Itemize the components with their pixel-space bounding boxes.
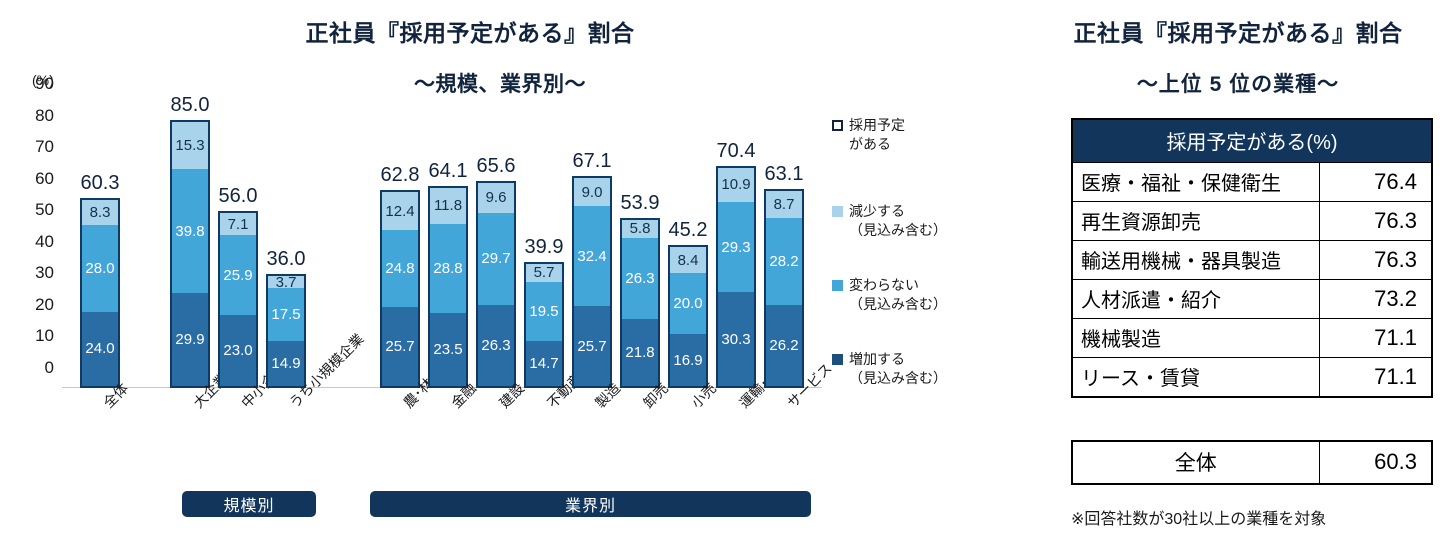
- bar-segment-decrease[interactable]: 7.1: [220, 213, 256, 235]
- table-header-row: 採用予定がある(%): [1072, 119, 1432, 163]
- bar-segment-increase[interactable]: 16.9: [670, 334, 706, 386]
- infographic-root: 正社員『採用予定がある』割合 〜規模、業界別〜 (%) 010203040506…: [0, 0, 1456, 551]
- bar-segment-value: 32.4: [577, 249, 606, 264]
- table-row[interactable]: リース・賃貸71.1: [1072, 358, 1432, 398]
- bar-segment-value: 8.3: [90, 205, 111, 220]
- bar-segment-value: 23.0: [223, 343, 252, 358]
- bar-segment-unchanged[interactable]: 19.5: [526, 282, 562, 342]
- bar-segment-decrease[interactable]: 5.7: [526, 264, 562, 281]
- table-row[interactable]: 機械製造71.1: [1072, 319, 1432, 358]
- bar-segment-unchanged[interactable]: 20.0: [670, 273, 706, 334]
- y-axis-tick: 10: [35, 326, 54, 346]
- bar-segment-value: 20.0: [673, 296, 702, 311]
- stacked-bar[interactable]: 9.629.726.3: [476, 181, 516, 388]
- bar-segment-value: 9.6: [486, 190, 507, 205]
- table-cell-industry: 医療・福祉・保健衛生: [1072, 163, 1319, 202]
- table-panel: 正社員『採用予定がある』割合 〜上位 5 位の業種〜 採用予定がある(%) 医療…: [1020, 0, 1456, 551]
- y-axis-tick: 20: [35, 295, 54, 315]
- y-axis-tick: 60: [35, 169, 54, 189]
- bar-segment-increase[interactable]: 26.3: [478, 305, 514, 386]
- table-cell-industry: リース・賃貸: [1072, 358, 1319, 398]
- bar-segment-value: 5.7: [534, 265, 555, 280]
- bar-segment-increase[interactable]: 25.7: [382, 307, 418, 386]
- plot-area: 0102030405060708090 60.38.328.024.0全体85.…: [62, 104, 822, 388]
- bar-column[interactable]: 63.18.728.226.2サービス: [764, 189, 804, 388]
- stacked-bar[interactable]: 7.125.923.0: [218, 211, 258, 388]
- legend-item-recruit-plan[interactable]: 採用予定 がある: [832, 116, 905, 154]
- table-cell-value: 71.1: [1319, 319, 1432, 358]
- y-axis-tick: 90: [35, 74, 54, 94]
- chart-panel: 正社員『採用予定がある』割合 〜規模、業界別〜 (%) 010203040506…: [0, 0, 1020, 551]
- table-footnote: ※回答社数が30社以上の業種を対象: [1071, 505, 1326, 529]
- legend-label: 減少する （見込み含む）: [849, 202, 947, 240]
- bar-segment-value: 8.7: [774, 197, 795, 212]
- legend-swatch-icon: [832, 206, 843, 217]
- y-axis-tick: 40: [35, 232, 54, 252]
- table-row[interactable]: 人材派遣・紹介73.2: [1072, 280, 1432, 319]
- bar-segment-unchanged[interactable]: 26.3: [622, 238, 658, 319]
- bar-column[interactable]: 56.07.125.923.0中小企業: [218, 211, 258, 388]
- bar-total-label: 60.3: [81, 172, 120, 195]
- chart-title: 正社員『採用予定がある』割合: [0, 14, 940, 48]
- bar-segment-decrease[interactable]: 9.0: [574, 178, 610, 206]
- bar-segment-value: 10.9: [721, 177, 750, 192]
- bar-segment-value: 29.7: [481, 251, 510, 266]
- bar-segment-unchanged[interactable]: 28.0: [82, 225, 118, 311]
- bar-segment-value: 39.8: [175, 224, 204, 239]
- bar-segment-value: 19.5: [529, 304, 558, 319]
- bar-segment-decrease[interactable]: 15.3: [172, 122, 208, 170]
- bar-segment-value: 9.0: [582, 185, 603, 200]
- bar-segment-unchanged[interactable]: 29.7: [478, 213, 514, 305]
- bar-segment-increase[interactable]: 21.8: [622, 319, 658, 386]
- bar-segment-decrease[interactable]: 8.7: [766, 191, 802, 218]
- stacked-bar[interactable]: 8.728.226.2: [764, 189, 804, 388]
- bar-segment-decrease[interactable]: 8.3: [82, 200, 118, 226]
- bar-segment-value: 15.3: [175, 138, 204, 153]
- stacked-bar[interactable]: 8.328.024.0: [80, 198, 120, 388]
- bar-segment-value: 5.8: [630, 221, 651, 236]
- bar-segment-value: 17.5: [271, 307, 300, 322]
- bar-segment-value: 28.2: [769, 254, 798, 269]
- table-cell-value: 76.3: [1319, 241, 1432, 280]
- total-table: 全体 60.3: [1071, 440, 1433, 485]
- bar-segment-increase[interactable]: 29.9: [172, 293, 208, 386]
- legend-item-decrease[interactable]: 減少する （見込み含む）: [832, 202, 947, 240]
- bar-segment-unchanged[interactable]: 32.4: [574, 206, 610, 306]
- table-cell-value: 76.4: [1319, 163, 1432, 202]
- bar-column[interactable]: 85.015.339.829.9大企業: [170, 120, 210, 388]
- bar-total-label: 70.4: [717, 140, 756, 163]
- group-banner-industry: 業界別: [370, 491, 811, 517]
- y-axis-tick: 30: [35, 263, 54, 283]
- y-axis-tick: 50: [35, 200, 54, 220]
- bar-total-label: 62.8: [381, 164, 420, 187]
- table-title: 正社員『採用予定がある』割合: [1020, 14, 1456, 48]
- bar-segment-value: 16.9: [673, 353, 702, 368]
- y-axis-tick: 0: [45, 358, 54, 378]
- bar-segment-increase[interactable]: 24.0: [82, 312, 118, 386]
- table-cell-industry: 機械製造: [1072, 319, 1319, 358]
- stacked-bar[interactable]: 10.929.330.3: [716, 166, 756, 388]
- legend-item-increase[interactable]: 増加する （見込み含む）: [832, 350, 947, 388]
- bar-column[interactable]: 65.69.629.726.3建設: [476, 181, 516, 388]
- total-row-label: 全体: [1072, 441, 1319, 484]
- legend-swatch-icon: [832, 280, 843, 291]
- bar-segment-value: 25.7: [385, 339, 414, 354]
- table-cell-value: 71.1: [1319, 358, 1432, 398]
- bar-segment-unchanged[interactable]: 39.8: [172, 169, 208, 293]
- bar-segment-value: 14.9: [271, 356, 300, 371]
- stacked-bar[interactable]: 12.424.825.7: [380, 190, 420, 388]
- bar-segment-value: 12.4: [385, 204, 414, 219]
- table-cell-industry: 輸送用機械・器具製造: [1072, 241, 1319, 280]
- bar-segment-value: 7.1: [228, 217, 249, 232]
- bar-segment-unchanged[interactable]: 24.8: [382, 230, 418, 307]
- bar-segment-value: 29.9: [175, 332, 204, 347]
- bar-total-label: 45.2: [669, 219, 708, 242]
- bar-segment-value: 23.5: [433, 342, 462, 357]
- bar-segment-value: 24.8: [385, 261, 414, 276]
- bar-column[interactable]: 45.28.420.016.9小売: [668, 245, 708, 388]
- bar-segment-value: 28.0: [85, 261, 114, 276]
- bar-total-label: 64.1: [429, 160, 468, 183]
- total-row-value: 60.3: [1319, 441, 1432, 484]
- bar-segment-value: 29.3: [721, 240, 750, 255]
- bar-total-label: 63.1: [765, 163, 804, 186]
- bar-segment-increase[interactable]: 14.9: [268, 341, 304, 386]
- table-row[interactable]: 医療・福祉・保健衛生76.4: [1072, 163, 1432, 202]
- bar-segment-value: 14.7: [529, 356, 558, 371]
- bar-total-label: 67.1: [573, 150, 612, 173]
- bar-total-label: 39.9: [525, 236, 564, 259]
- y-axis-tick: 80: [35, 106, 54, 126]
- table-cell-industry: 再生資源卸売: [1072, 202, 1319, 241]
- bar-total-label: 53.9: [621, 192, 660, 215]
- table-row[interactable]: 再生資源卸売76.3: [1072, 202, 1432, 241]
- legend-swatch-icon: [832, 120, 843, 131]
- bar-segment-decrease[interactable]: 10.9: [718, 168, 754, 202]
- stacked-bar[interactable]: 5.826.321.8: [620, 218, 660, 388]
- bar-segment-value: 30.3: [721, 332, 750, 347]
- table-subtitle: 〜上位 5 位の業種〜: [1020, 68, 1456, 98]
- bar-segment-unchanged[interactable]: 25.9: [220, 235, 256, 315]
- bar-segment-decrease[interactable]: 3.7: [268, 276, 304, 287]
- bar-segment-decrease[interactable]: 11.8: [430, 188, 466, 224]
- bar-column[interactable]: 39.95.719.514.7不動産: [524, 262, 564, 388]
- stacked-bar[interactable]: 15.339.829.9: [170, 120, 210, 388]
- bar-segment-value: 26.3: [625, 271, 654, 286]
- stacked-bar[interactable]: 5.719.514.7: [524, 262, 564, 388]
- bar-segment-increase[interactable]: 25.7: [574, 306, 610, 386]
- bar-segment-increase[interactable]: 23.5: [430, 313, 466, 386]
- bar-segment-increase[interactable]: 23.0: [220, 315, 256, 386]
- bar-column[interactable]: 70.410.929.330.3運輸･倉庫: [716, 166, 756, 388]
- bar-segment-decrease[interactable]: 9.6: [478, 183, 514, 213]
- bar-segment-value: 21.8: [625, 345, 654, 360]
- bar-segment-value: 25.7: [577, 339, 606, 354]
- bar-segment-value: 11.8: [434, 198, 462, 213]
- bar-column[interactable]: 60.38.328.024.0全体: [80, 198, 120, 388]
- bar-segment-unchanged[interactable]: 28.8: [430, 224, 466, 313]
- bar-segment-value: 3.7: [276, 276, 297, 287]
- bar-segment-unchanged[interactable]: 17.5: [268, 288, 304, 341]
- stacked-bar[interactable]: 3.717.514.9: [266, 274, 306, 388]
- bar-total-label: 85.0: [171, 94, 210, 117]
- table-cell-value: 73.2: [1319, 280, 1432, 319]
- bar-segment-value: 26.2: [769, 338, 798, 353]
- table-row: 全体 60.3: [1072, 441, 1432, 484]
- legend-item-unchanged[interactable]: 変わらない （見込み含む）: [832, 276, 947, 314]
- stacked-bar[interactable]: 9.032.425.7: [572, 176, 612, 388]
- legend-label: 採用予定 がある: [849, 116, 905, 154]
- bar-segment-value: 25.9: [223, 268, 252, 283]
- bar-total-label: 65.6: [477, 155, 516, 178]
- bar-segment-increase[interactable]: 26.2: [766, 305, 802, 386]
- bar-segment-decrease[interactable]: 5.8: [622, 220, 658, 238]
- stacked-bar[interactable]: 8.420.016.9: [668, 245, 708, 388]
- group-banner-size: 規模別: [182, 491, 316, 517]
- table-row[interactable]: 輸送用機械・器具製造76.3: [1072, 241, 1432, 280]
- bar-segment-value: 24.0: [85, 341, 114, 356]
- bar-segment-increase[interactable]: 14.7: [526, 341, 562, 386]
- bar-segment-decrease[interactable]: 8.4: [670, 247, 706, 273]
- table-header-cell: 採用予定がある(%): [1072, 119, 1432, 163]
- bar-segment-decrease[interactable]: 12.4: [382, 192, 418, 230]
- bar-segment-value: 8.4: [678, 253, 699, 268]
- stacked-bar[interactable]: 11.828.823.5: [428, 186, 468, 388]
- bar-column[interactable]: 53.95.826.321.8卸売: [620, 218, 660, 388]
- bar-segment-increase[interactable]: 30.3: [718, 292, 754, 386]
- bar-column[interactable]: 62.812.424.825.7農･林･水産: [380, 190, 420, 388]
- bar-total-label: 56.0: [219, 185, 258, 208]
- bar-segment-unchanged[interactable]: 28.2: [766, 218, 802, 305]
- bar-column[interactable]: 67.19.032.425.7製造: [572, 176, 612, 388]
- ranking-table-body: 医療・福祉・保健衛生76.4再生資源卸売76.3輸送用機械・器具製造76.3人材…: [1072, 163, 1432, 398]
- bar-segment-value: 26.3: [481, 338, 510, 353]
- bar-column[interactable]: 64.111.828.823.5金融: [428, 186, 468, 388]
- table-cell-industry: 人材派遣・紹介: [1072, 280, 1319, 319]
- legend-label: 増加する （見込み含む）: [849, 350, 947, 388]
- bar-segment-unchanged[interactable]: 29.3: [718, 202, 754, 293]
- table-cell-value: 76.3: [1319, 202, 1432, 241]
- legend-label: 変わらない （見込み含む）: [849, 276, 947, 314]
- bar-total-label: 36.0: [267, 248, 306, 271]
- bar-column[interactable]: 36.03.717.514.9うち小規模企業: [266, 274, 306, 388]
- y-axis-tick: 70: [35, 137, 54, 157]
- ranking-table: 採用予定がある(%) 医療・福祉・保健衛生76.4再生資源卸売76.3輸送用機械…: [1071, 118, 1433, 398]
- legend-swatch-icon: [832, 354, 843, 365]
- bar-segment-value: 28.8: [433, 261, 462, 276]
